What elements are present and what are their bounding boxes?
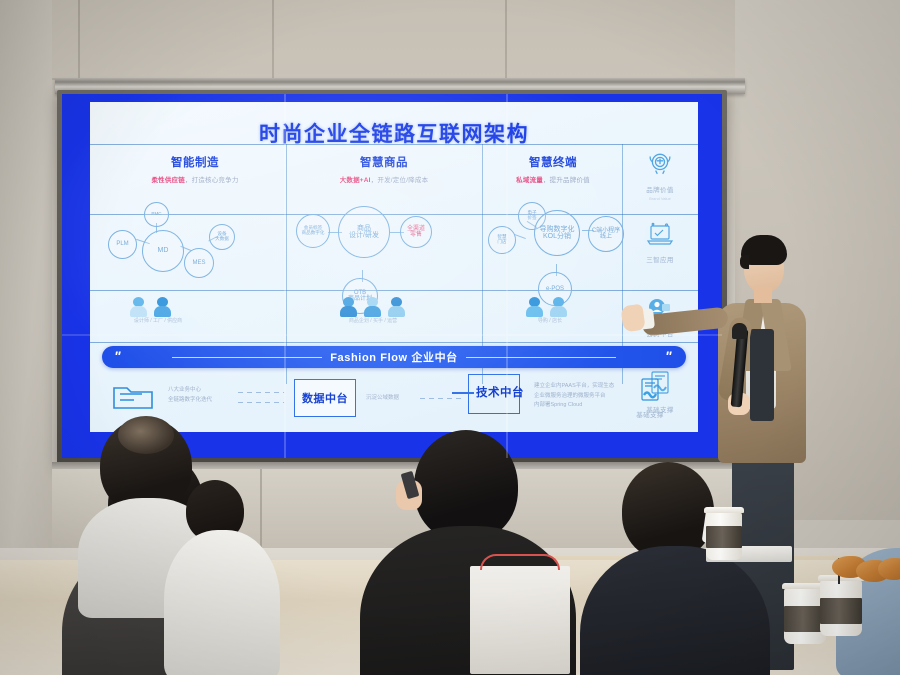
laptop-check-icon (646, 222, 674, 246)
folder-icon (110, 380, 156, 414)
avatar (130, 297, 147, 317)
hair-bun (118, 416, 174, 454)
avatar (388, 297, 405, 317)
column-header-smart-product: 智慧商品 大数据+AI，开发/定位/降成本 (290, 154, 478, 184)
column-subtitle: 大数据+AI，开发/定位/降成本 (290, 174, 478, 184)
node-plm[interactable]: PLM (108, 230, 137, 259)
node-mes[interactable]: MES (184, 248, 214, 278)
avatar-group-column-1 (130, 297, 171, 317)
document-chart-icon-bottom (638, 378, 662, 404)
avatar (154, 297, 171, 317)
tech-note: 建立企业内PAAS平台，实现生态 企业微服务治理的微服务平台 内部署Spring… (534, 382, 614, 411)
quote-close-icon: " (665, 348, 672, 364)
rail-sublabel: Brand Value (622, 196, 698, 201)
node-omnichannel-retail[interactable]: 全渠道 零售 (400, 216, 432, 248)
pointing-hand (620, 304, 645, 333)
paper-bag (470, 566, 570, 674)
rail-item-three-smart-apps[interactable]: 三智应用 (622, 222, 698, 264)
emblem-badge-icon (647, 150, 673, 176)
rail-item-brand-value[interactable]: 品牌价值 Brand Value (622, 150, 698, 201)
fashion-flow-band[interactable]: Fashion Flow 企业中台 (102, 346, 686, 368)
band-label: Fashion Flow 企业中台 (330, 349, 458, 365)
coffee-cup-front-right[interactable] (820, 580, 862, 636)
node-member-tag[interactable]: 会员标签 商品数字化 (296, 214, 330, 248)
node-equipment-bigdata[interactable]: 设备 大数据 (209, 224, 235, 250)
left-wall-column (0, 0, 52, 560)
column-header-smart-manufacturing: 智能制造 柔性供应链，打造核心竞争力 (110, 154, 280, 184)
left-note: 八大业务中心 全链路数字化迭代 (168, 386, 212, 405)
conference-room-scene: 时尚企业全链路互联网架构 智能制造 柔性供应链，打造核心竞争力 PMC PLM (0, 0, 900, 675)
avatar-caption-3: 导购 / 店长 (538, 317, 562, 324)
avatar-group-column-2 (340, 297, 405, 317)
tech-middle-platform-label: 技术中台 (476, 384, 524, 400)
data-middle-platform-box[interactable]: 数据中台 (294, 379, 356, 417)
avatar (550, 297, 567, 317)
node-pmc[interactable]: PMC (144, 202, 169, 227)
video-wall-screen[interactable]: 时尚企业全链路互联网架构 智能制造 柔性供应链，打造核心竞争力 PMC PLM (62, 94, 722, 458)
data-note: 沉淀公域数据 (366, 394, 399, 404)
bottom-right-label: 基础支撑 (630, 409, 670, 419)
node-miniprogram[interactable]: C端小程序 线上 (588, 216, 624, 252)
avatar (364, 297, 381, 317)
coffee-cup-back[interactable] (706, 512, 742, 560)
avatar-group-column-3 (526, 297, 567, 317)
node-product-design[interactable]: 商品 设计/研发 (338, 206, 390, 258)
node-smart-store[interactable]: 智慧 门店 (488, 226, 516, 254)
quote-open-icon: " (114, 348, 121, 364)
rail-label: 品牌价值 (622, 184, 698, 194)
avatar (340, 297, 357, 317)
node-kol-distribution[interactable]: 导购数字化 KOL分销 (534, 210, 580, 256)
node-md[interactable]: MD (142, 230, 184, 272)
avatar-caption-1: 设计师 / 工厂 / 供应商 (134, 317, 182, 324)
presentation-slide: 时尚企业全链路互联网架构 智能制造 柔性供应链，打造核心竞争力 PMC PLM (90, 102, 698, 432)
avatar (526, 297, 543, 317)
avatar-caption-2: 商品企划 / 买手 / 运营 (349, 317, 397, 324)
column-subtitle: 柔性供应链，打造核心竞争力 (110, 174, 280, 184)
rail-label: 三智应用 (622, 254, 698, 264)
